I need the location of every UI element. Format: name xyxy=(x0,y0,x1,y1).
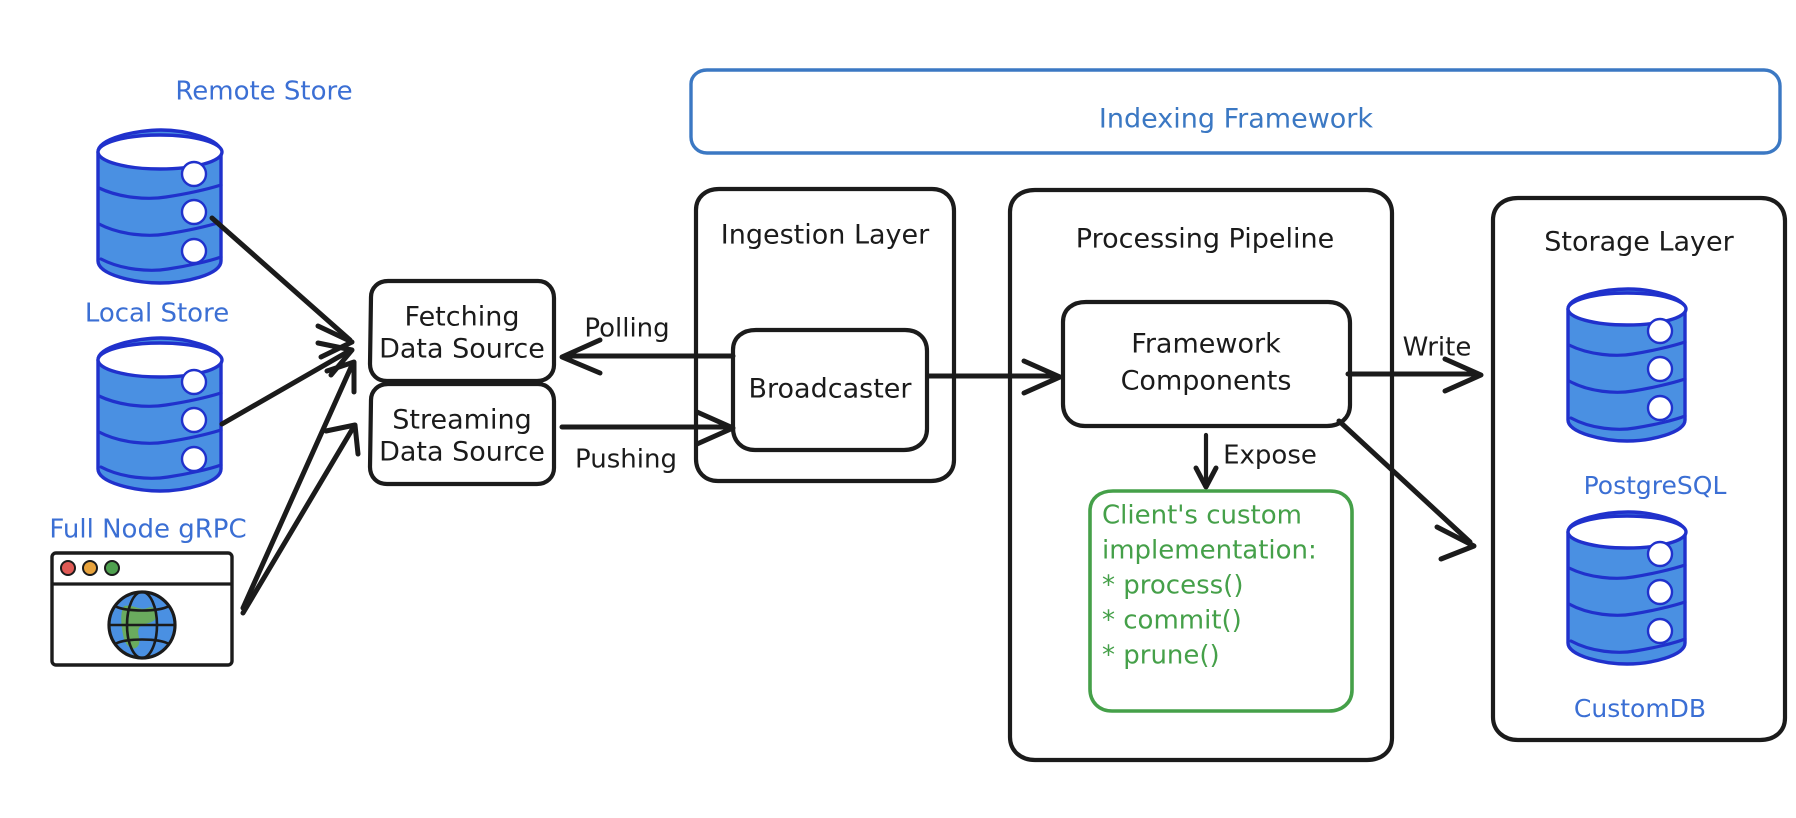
expose-label: Expose xyxy=(1223,441,1317,471)
framework-components-box[interactable]: Framework Components xyxy=(1063,302,1350,426)
processing-pipeline-container[interactable]: Processing Pipeline Framework Components… xyxy=(1010,190,1392,760)
arrow-remote-to-fetching xyxy=(212,218,352,357)
database-icon xyxy=(98,338,222,491)
client-impl-line3: * process() xyxy=(1102,571,1243,601)
client-impl-line4: * commit() xyxy=(1102,606,1242,636)
postgresql-node[interactable]: PostgreSQL xyxy=(1568,289,1726,500)
broadcaster-label: Broadcaster xyxy=(749,374,913,405)
streaming-data-source-box[interactable]: Streaming Data Source xyxy=(370,384,554,484)
client-impl-line2: implementation: xyxy=(1102,536,1317,566)
postgresql-label: PostgreSQL xyxy=(1584,471,1727,500)
indexing-framework-title: Indexing Framework xyxy=(1099,104,1373,135)
indexing-framework-banner[interactable]: Indexing Framework xyxy=(691,70,1780,153)
framework-components-line2: Components xyxy=(1121,366,1292,397)
framework-components-line1: Framework xyxy=(1131,329,1281,360)
database-icon xyxy=(1568,289,1686,441)
streaming-data-source-line1: Streaming xyxy=(392,405,531,436)
processing-pipeline-title: Processing Pipeline xyxy=(1076,224,1334,255)
customdb-node[interactable]: CustomDB xyxy=(1568,512,1706,723)
ingestion-layer-container[interactable]: Ingestion Layer Broadcaster xyxy=(696,189,954,481)
polling-label: Polling xyxy=(584,314,669,344)
arrow-grpc-to-fetching xyxy=(243,362,354,608)
arrow-grpc-to-streaming xyxy=(243,425,358,613)
arrow-polling: Polling xyxy=(562,314,733,374)
browser-globe-icon xyxy=(52,553,232,665)
pushing-label: Pushing xyxy=(575,445,677,475)
database-icon xyxy=(98,130,222,283)
streaming-data-source-line2: Data Source xyxy=(379,437,545,468)
remote-store-node[interactable]: Remote Store xyxy=(98,77,353,284)
fetching-data-source-line1: Fetching xyxy=(405,302,520,333)
client-impl-line1: Client's custom xyxy=(1102,501,1302,531)
client-custom-implementation-box[interactable]: Client's custom implementation: * proces… xyxy=(1090,491,1352,711)
ingestion-layer-title: Ingestion Layer xyxy=(721,220,930,251)
fetching-data-source-box[interactable]: Fetching Data Source xyxy=(370,281,554,381)
local-store-node[interactable]: Local Store xyxy=(85,299,229,492)
full-node-grpc-label: Full Node gRPC xyxy=(49,515,246,545)
local-store-label: Local Store xyxy=(85,299,229,329)
client-impl-line5: * prune() xyxy=(1102,641,1220,671)
arrow-broadcaster-to-framework xyxy=(929,361,1060,393)
storage-layer-container[interactable]: Storage Layer PostgreSQL xyxy=(1493,198,1785,740)
storage-layer-title: Storage Layer xyxy=(1544,227,1734,258)
broadcaster-box[interactable]: Broadcaster xyxy=(733,330,927,450)
fetching-data-source-line2: Data Source xyxy=(379,334,545,365)
customdb-label: CustomDB xyxy=(1574,694,1706,723)
globe-icon xyxy=(109,592,175,658)
architecture-diagram: Remote Store Local Store xyxy=(0,0,1796,818)
arrow-expose: Expose xyxy=(1196,435,1317,487)
full-node-grpc-node[interactable]: Full Node gRPC xyxy=(49,515,246,666)
arrow-write-customdb xyxy=(1339,421,1474,559)
remote-store-label: Remote Store xyxy=(175,77,352,107)
database-icon xyxy=(1568,512,1686,664)
arrow-pushing: Pushing xyxy=(562,412,733,475)
write-label: Write xyxy=(1403,333,1472,363)
arrow-write-postgres: Write xyxy=(1348,333,1481,392)
